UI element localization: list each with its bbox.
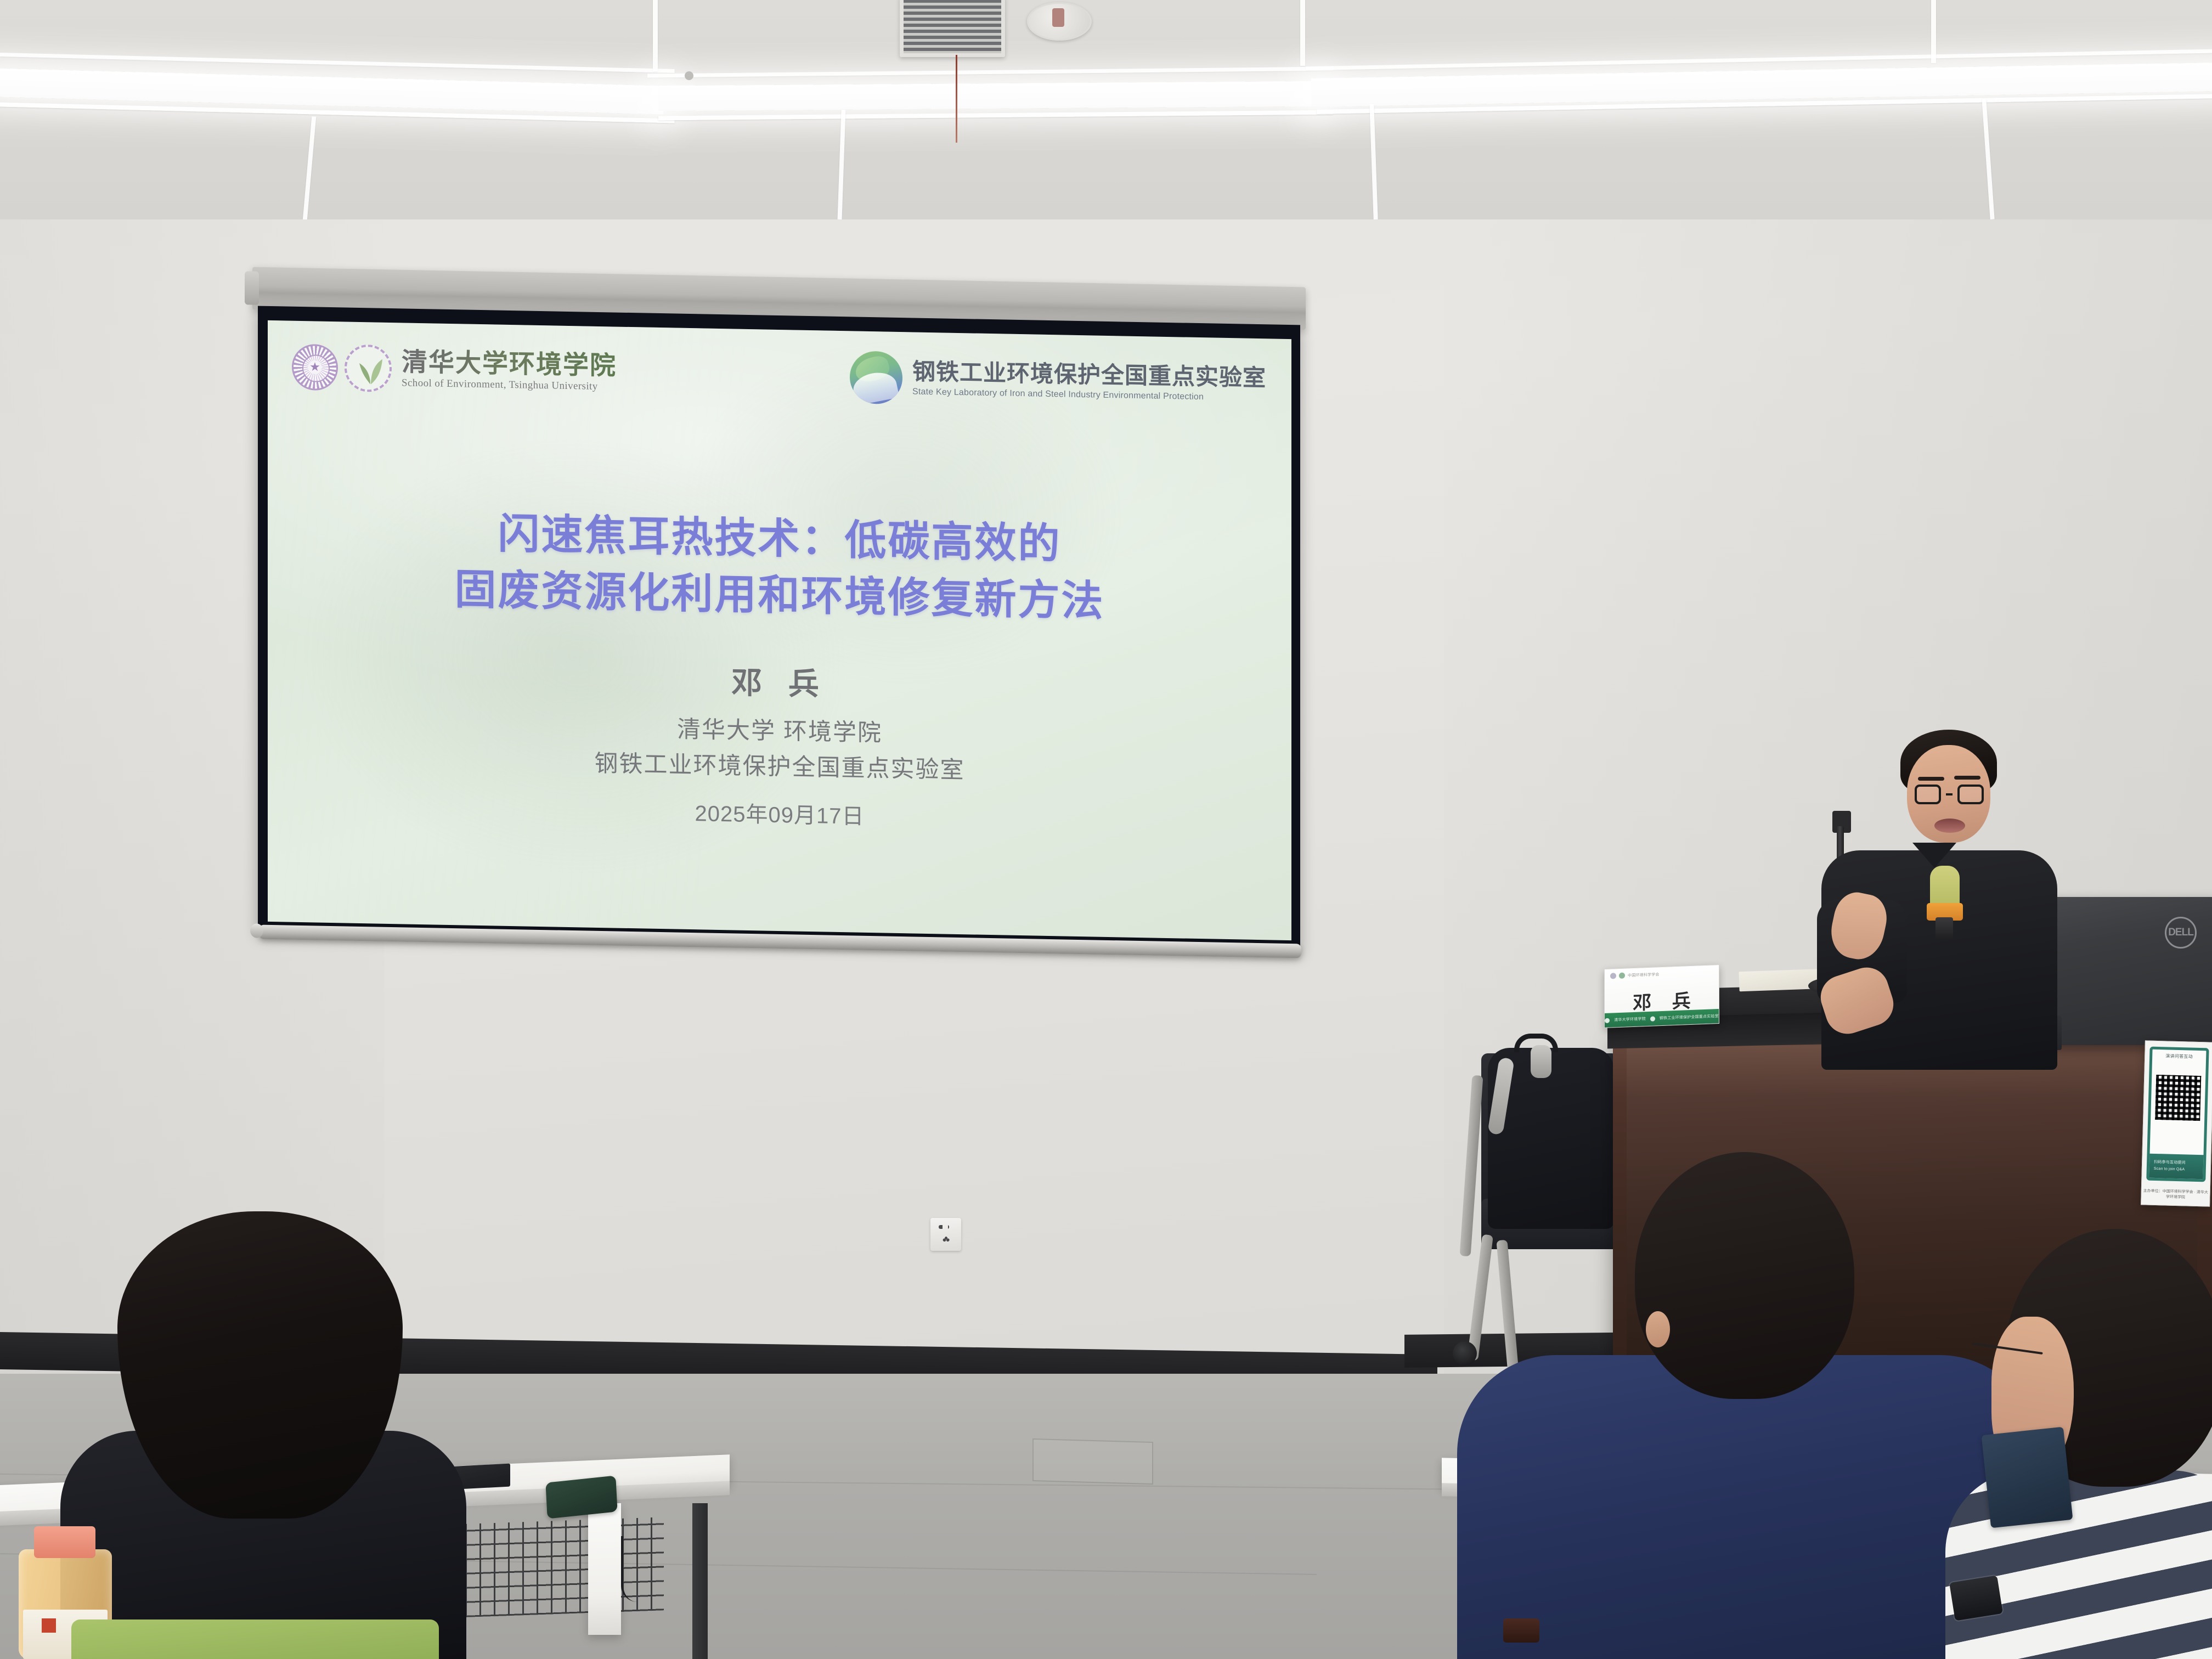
speaker-nameplate: 中国环境科学学会 邓 兵 清华大学环境学院 钢铁工业环境保护全国重点实验室 [1604, 964, 1719, 1028]
speaker-deng-bing [1854, 735, 2096, 1042]
slide-title: 闪速焦耳热技术：低碳高效的 固废资源化利用和环境修复新方法 [268, 501, 1291, 634]
state-key-lab-logo-group: 钢铁工业环境保护全国重点实验室 State Key Laboratory of … [850, 351, 1266, 411]
dell-logo-icon: DELL [2165, 917, 2197, 949]
tsinghua-logo-en: School of Environment, Tsinghua Universi… [402, 377, 617, 393]
speaker-glasses [1915, 785, 1984, 804]
qr-band-line1: 扫码参与互动提问 [2154, 1159, 2186, 1166]
qr-code-icon [2155, 1075, 2201, 1121]
screen-black-frame: 清华大学环境学院 School of Environment, Tsinghua… [258, 306, 1300, 951]
ceiling-tile-seam [658, 110, 1333, 121]
microphone-handle [1936, 917, 1953, 939]
nameplate-logo-icon [1610, 973, 1616, 979]
ceiling-tile-seam [647, 66, 1333, 77]
state-key-lab-cn: 钢铁工业环境保护全国重点实验室 [912, 360, 1266, 391]
floor-access-panel [1032, 1438, 1153, 1485]
vent-hanging-wire [956, 55, 957, 143]
bottle-cap[interactable] [34, 1526, 95, 1558]
audience-front-right-striped-body [1945, 1470, 2212, 1659]
ceiling-tile-seam [0, 53, 675, 73]
slide-surface: 清华大学环境学院 School of Environment, Tsinghua… [268, 320, 1291, 940]
wall-power-socket[interactable] [930, 1218, 961, 1251]
desk-cable-tray [588, 1503, 621, 1635]
desk-leg [692, 1503, 708, 1659]
tsinghua-logo-cn: 清华大学环境学院 [402, 348, 617, 379]
qr-poster-band: 扫码参与互动提问 Scan to join Q&A [2149, 1154, 2203, 1180]
qr-poster-caption: 演讲问答互动 [2152, 1053, 2206, 1060]
air-vent-icon [900, 0, 1005, 57]
ceiling-tile-seam [653, 0, 658, 71]
speaker-eyebrow [1954, 776, 1980, 780]
smoke-detector-icon [1027, 2, 1092, 41]
nameplate-logo-icon [1619, 973, 1625, 979]
audience-ear [1646, 1311, 1670, 1347]
chair-caster [1453, 1341, 1477, 1365]
qr-band-line2: Scan to join Q&A [2154, 1167, 2185, 1171]
microphone-head [1930, 866, 1960, 907]
state-key-lab-logo-text: 钢铁工业环境保护全国重点实验室 State Key Laboratory of … [912, 360, 1266, 403]
tablet-device[interactable] [1982, 1427, 2073, 1528]
ceiling-tile-seam [303, 116, 317, 219]
state-key-lab-emblem-icon [850, 351, 902, 404]
desk-cable [621, 1536, 659, 1602]
ceiling-tile-seam [1931, 0, 1936, 63]
glasses-lens-left [1915, 785, 1941, 804]
phone-on-desk[interactable] [545, 1475, 617, 1519]
ceiling-light-strip [658, 81, 1322, 111]
speaker-eyebrow [1918, 777, 1944, 781]
ceiling-tile-seam [1300, 0, 1305, 66]
tsinghua-logo-text: 清华大学环境学院 School of Environment, Tsinghua… [402, 348, 617, 393]
smartwatch [1949, 1576, 2003, 1621]
qr-poster-footer: 主办单位：中国环境科学学会 · 清华大学环境学院 [2141, 1188, 2209, 1200]
nameplate-footer-right: 钢铁工业环境保护全国重点实验室 [1660, 1013, 1719, 1021]
backpack-handle [1514, 1034, 1558, 1052]
school-of-environment-leaf-emblem-icon [345, 344, 392, 392]
ceiling-tile-seam [838, 110, 846, 219]
ceiling-tile-seam [1369, 104, 1378, 219]
lecture-hall-scene: 清华大学环境学院 School of Environment, Tsinghua… [0, 0, 2212, 1659]
nameplate-header-note: 中国环境科学学会 [1628, 972, 1660, 978]
leather-wristwatch [1503, 1618, 1539, 1643]
nameplate-footer-left: 清华大学环境学院 [1614, 1016, 1646, 1023]
nameplate-header: 中国环境科学学会 [1610, 971, 1660, 979]
audience-front-left-hair [117, 1211, 403, 1519]
nameplate-footer-logo-icon [1605, 1018, 1610, 1023]
qr-code-poster[interactable]: 演讲问答互动 扫码参与互动提问 Scan to join Q&A 主办单位：中国… [2141, 1040, 2212, 1206]
ceiling-tile-seam [1982, 99, 1994, 219]
glasses-lens-right [1957, 785, 1984, 804]
glasses-bridge [1946, 793, 1953, 795]
tsinghua-logo-group: 清华大学环境学院 School of Environment, Tsinghua… [292, 343, 617, 397]
green-chair-back [71, 1620, 439, 1659]
speaker-mouth [1934, 819, 1965, 833]
tsinghua-university-seal-icon [292, 344, 338, 391]
qr-poster-frame: 演讲问答互动 扫码参与互动提问 Scan to join Q&A [2146, 1047, 2209, 1182]
projection-screen: 清华大学环境学院 School of Environment, Tsinghua… [241, 277, 1328, 966]
audience-front-right-navy-head [1635, 1152, 1854, 1399]
nameplate-footer-logo-icon [1650, 1016, 1655, 1021]
ceiling [0, 0, 2212, 219]
sprinkler-head-icon [685, 71, 693, 80]
